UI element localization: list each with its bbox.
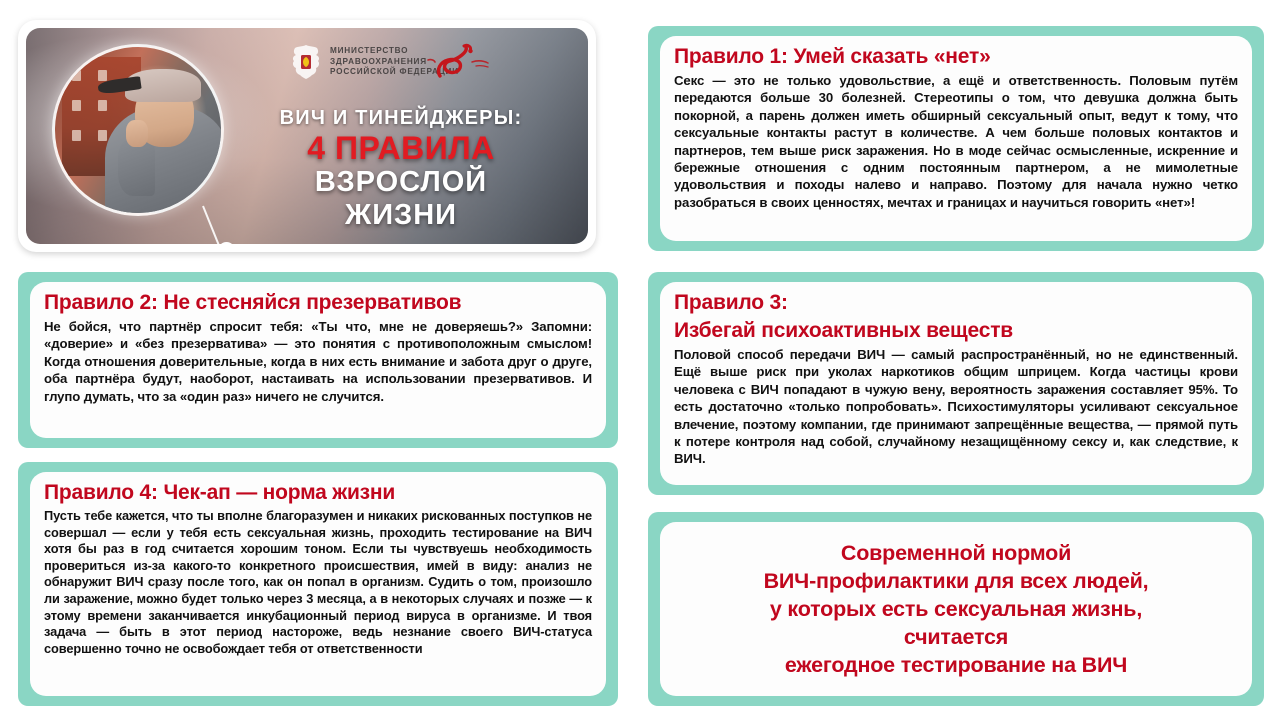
rule-4-card: Правило 4: Чек-ап — норма жизни Пусть те… <box>30 472 606 696</box>
conclusion-text: Современной нормой ВИЧ-профилактики для … <box>764 539 1149 679</box>
rule-2-card: Правило 2: Не стесняйся презервативов Не… <box>30 282 606 438</box>
photo-window <box>98 70 107 81</box>
photo-hand <box>126 120 148 147</box>
photo-window <box>72 130 81 141</box>
rule-1-card: Правило 1: Умей сказать «нет» Секс — это… <box>660 36 1252 241</box>
rule-4-panel: Правило 4: Чек-ап — норма жизни Пусть те… <box>18 462 618 706</box>
hero-title-line-2: ЖИЗНИ <box>232 199 570 232</box>
hero-title-line-1: ВЗРОСЛОЙ <box>232 166 570 199</box>
teenager-photo <box>52 44 224 216</box>
hero-title-block: ВИЧ И ТИНЕЙДЖЕРЫ: 4 ПРАВИЛА ВЗРОСЛОЙ ЖИЗ… <box>232 106 570 232</box>
infographic-page: МИНИСТЕРСТВО ЗДРАВООХРАНЕНИЯ РОССИЙСКОЙ … <box>0 0 1280 720</box>
hero-title-accent: 4 ПРАВИЛА <box>232 130 570 166</box>
rule-3-panel: Правило 3: Избегай психоактивных веществ… <box>648 272 1264 495</box>
rule-3-card: Правило 3: Избегай психоактивных веществ… <box>660 282 1252 485</box>
rule-3-title-line-2: Избегай психоактивных веществ <box>674 318 1238 343</box>
photo-window <box>98 130 107 141</box>
rule-2-title: Правило 2: Не стесняйся презервативов <box>44 290 592 315</box>
rule-4-body: Пусть тебе кажется, что ты вполне благор… <box>44 508 592 657</box>
photo-window <box>72 100 81 111</box>
rule-1-body: Секс — это не только удовольствие, а ещё… <box>674 72 1238 211</box>
conclusion-card: Современной нормой ВИЧ-профилактики для … <box>660 522 1252 696</box>
russian-federation-coat-of-arms-icon <box>290 44 322 80</box>
rule-4-title: Правило 4: Чек-ап — норма жизни <box>44 480 592 505</box>
takzdorovo-snake-logo-icon <box>410 42 502 82</box>
photo-pointer-dot <box>218 242 235 244</box>
hero-banner-card: МИНИСТЕРСТВО ЗДРАВООХРАНЕНИЯ РОССИЙСКОЙ … <box>18 20 596 252</box>
rule-2-body: Не бойся, что партнёр спросит тебя: «Ты … <box>44 318 592 405</box>
rule-3-body: Половой способ передачи ВИЧ — самый расп… <box>674 346 1238 468</box>
hero-background-image: МИНИСТЕРСТВО ЗДРАВООХРАНЕНИЯ РОССИЙСКОЙ … <box>26 28 588 244</box>
hero-title-kicker: ВИЧ И ТИНЕЙДЖЕРЫ: <box>232 106 570 130</box>
rule-2-panel: Правило 2: Не стесняйся презервативов Не… <box>18 272 618 448</box>
photo-window <box>72 70 81 81</box>
rule-1-title: Правило 1: Умей сказать «нет» <box>674 44 1238 69</box>
photo-arm <box>118 140 155 196</box>
rule-3-title-line-1: Правило 3: <box>674 290 1238 315</box>
rule-1-panel: Правило 1: Умей сказать «нет» Секс — это… <box>648 26 1264 251</box>
conclusion-panel: Современной нормой ВИЧ-профилактики для … <box>648 512 1264 706</box>
photo-window <box>98 100 107 111</box>
